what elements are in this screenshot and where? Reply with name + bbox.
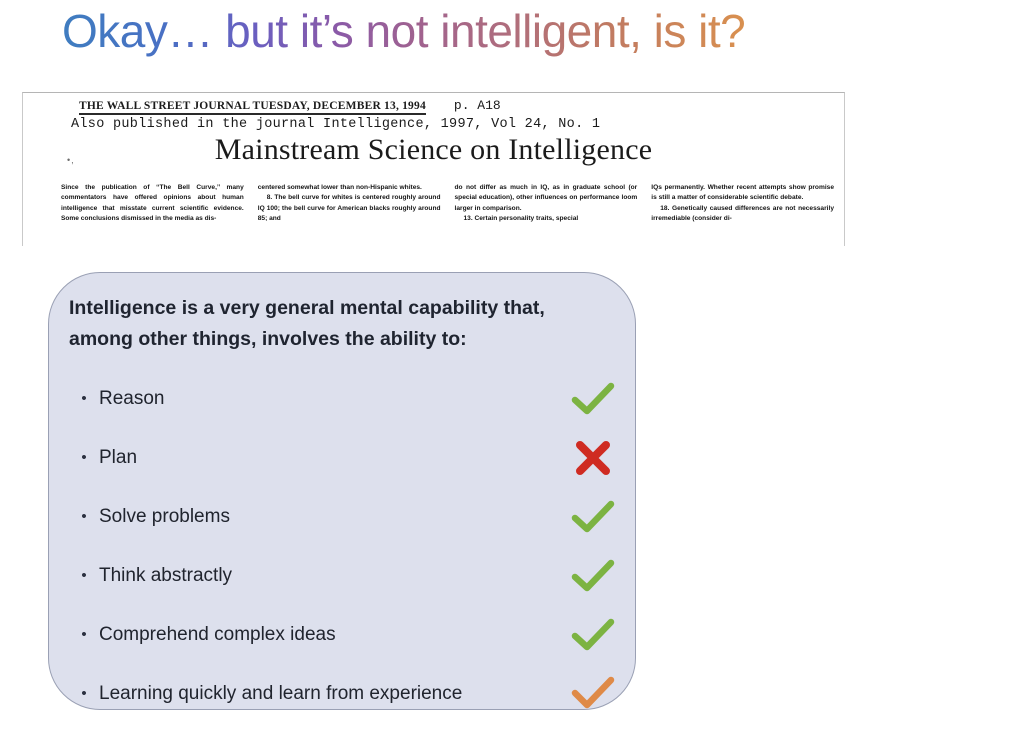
clipping-flyspeck-mark: •, <box>67 155 75 165</box>
list-item-label: Learning quickly and learn from experien… <box>99 683 462 705</box>
list-item: • Plan <box>69 428 619 487</box>
list-item: • Solve problems <box>69 487 619 546</box>
clipping-paragraph: do not differ as much in IQ, as in gradu… <box>455 183 638 214</box>
clipping-column: do not differ as much in IQ, as in gradu… <box>455 183 638 225</box>
bullet-icon: • <box>69 627 99 642</box>
clipping-subline: Also published in the journal Intelligen… <box>71 117 600 132</box>
list-item-label: Reason <box>99 388 165 410</box>
bullet-icon: • <box>69 450 99 465</box>
cross-red-icon <box>567 436 619 480</box>
definition-heading: Intelligence is a very general mental ca… <box>69 293 599 355</box>
list-item: • Think abstractly <box>69 546 619 605</box>
check-green-icon <box>567 613 619 657</box>
clipping-masthead: THE WALL STREET JOURNAL TUESDAY, DECEMBE… <box>79 100 426 115</box>
list-item: • Reason <box>69 369 619 428</box>
check-orange-icon <box>567 672 619 716</box>
list-item-label: Plan <box>99 447 137 469</box>
page-title: Okay… but it’s not intelligent, is it? <box>62 4 745 58</box>
check-green-icon <box>567 495 619 539</box>
list-item-label: Comprehend complex ideas <box>99 624 336 646</box>
clipping-paragraph: centered somewhat lower than non-Hispani… <box>258 183 441 193</box>
clipping-bottom-fade <box>23 224 844 246</box>
definition-card: Intelligence is a very general mental ca… <box>48 272 636 710</box>
check-green-icon <box>567 377 619 421</box>
capability-list: • Reason • Plan • Solve problems <box>69 369 619 723</box>
clipping-headline: Mainstream Science on Intelligence <box>23 133 844 167</box>
list-item-label: Solve problems <box>99 506 230 528</box>
clipping-columns: Since the publication of ‘‘The Bell Curv… <box>61 183 834 225</box>
list-item: • Learning quickly and learn from experi… <box>69 664 619 723</box>
clipping-page-reference: p. A18 <box>454 98 501 113</box>
check-green-icon <box>567 554 619 598</box>
clipping-column: Since the publication of ‘‘The Bell Curv… <box>61 183 244 225</box>
clipping-paragraph: 13. Certain personality traits, special <box>455 214 638 224</box>
clipping-paragraph: IQs permanently. Whether recent attempts… <box>651 183 834 204</box>
bullet-icon: • <box>69 568 99 583</box>
list-item: • Comprehend complex ideas <box>69 605 619 664</box>
clipping-column: centered somewhat lower than non-Hispani… <box>258 183 441 225</box>
bullet-icon: • <box>69 686 99 701</box>
bullet-icon: • <box>69 509 99 524</box>
clipping-masthead-row: THE WALL STREET JOURNAL TUESDAY, DECEMBE… <box>79 98 819 115</box>
bullet-icon: • <box>69 391 99 406</box>
clipping-paragraph: Since the publication of ‘‘The Bell Curv… <box>61 183 244 225</box>
clipping-paragraph: 18. Genetically caused differences are n… <box>651 204 834 225</box>
list-item-label: Think abstractly <box>99 565 232 587</box>
clipping-paragraph: 8. The bell curve for whites is centered… <box>258 193 441 224</box>
newspaper-clipping: THE WALL STREET JOURNAL TUESDAY, DECEMBE… <box>22 92 845 246</box>
clipping-column: IQs permanently. Whether recent attempts… <box>651 183 834 225</box>
